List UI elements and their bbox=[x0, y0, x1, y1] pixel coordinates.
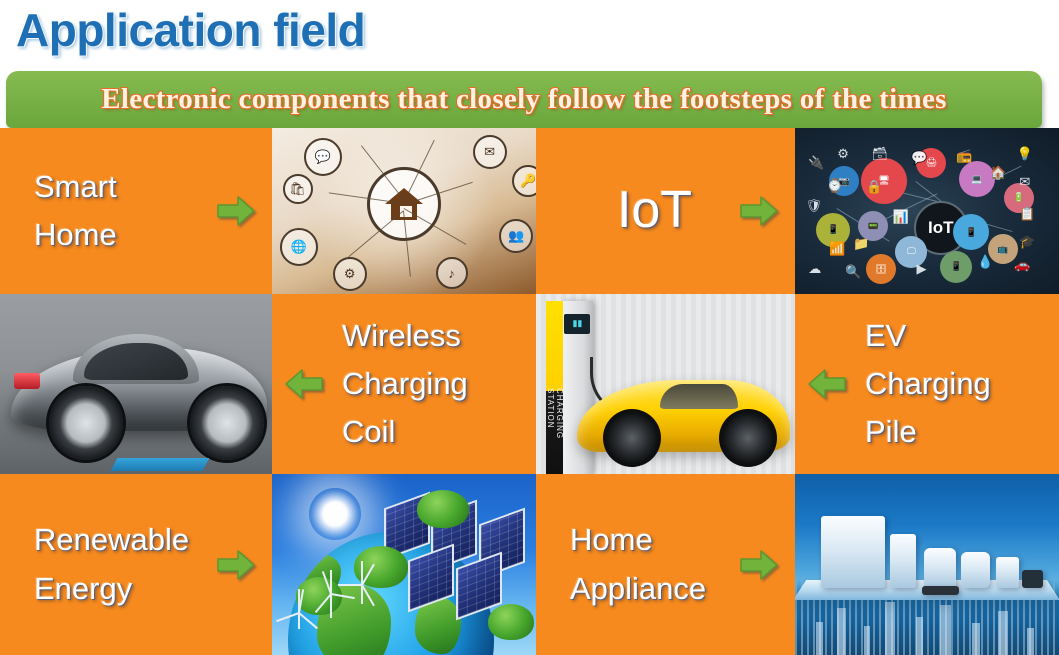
cell-ev-charging-image: CHARGING STATION ▮▮ bbox=[536, 294, 795, 474]
microwave bbox=[1022, 570, 1043, 588]
shield-icon: 🛡 bbox=[806, 198, 823, 214]
arrow-right-icon bbox=[739, 548, 779, 582]
video-icon: ▶ bbox=[916, 261, 926, 277]
key-icon: 🔑 bbox=[512, 165, 536, 197]
building bbox=[1027, 628, 1034, 655]
building bbox=[885, 602, 895, 655]
cell-renewable-energy-image bbox=[272, 474, 536, 655]
application-grid: Smart Home 💬 ✉ 🔑 🛍 🌐 ⚙ bbox=[0, 128, 1059, 655]
iot-label: IoT bbox=[617, 182, 692, 239]
blade bbox=[361, 564, 375, 586]
blade bbox=[361, 585, 375, 607]
cell-smart-home-image: 💬 ✉ 🔑 🛍 🌐 ⚙ ♪ 👥 bbox=[272, 128, 536, 294]
arrow-right-icon bbox=[739, 194, 779, 228]
clipboard-icon: 📋 bbox=[1019, 206, 1035, 222]
cell-iot[interactable]: IoT bbox=[536, 128, 795, 294]
tree bbox=[488, 604, 534, 640]
range-hood bbox=[924, 548, 956, 588]
chat-icon: 💬 bbox=[304, 138, 342, 176]
wireless-charging-coil-label: Wireless Charging Coil bbox=[342, 312, 468, 456]
tablet-node: 📱 bbox=[953, 214, 989, 250]
ev-charging-pile-label: EV Charging Pile bbox=[865, 312, 991, 456]
building bbox=[816, 622, 823, 655]
pillar-text: CHARGING STATION bbox=[547, 388, 563, 467]
tree bbox=[417, 490, 469, 528]
tagline-text: Electronic components that closely follo… bbox=[101, 83, 946, 116]
database-icon: 🗃 bbox=[872, 146, 889, 162]
search-icon: 🔍 bbox=[845, 264, 861, 280]
blade bbox=[276, 612, 299, 622]
laptop-node: 💻 bbox=[959, 161, 995, 197]
cell-home-appliance-image bbox=[795, 474, 1059, 655]
building bbox=[972, 623, 980, 655]
washer bbox=[996, 557, 1020, 588]
arrow-left-icon bbox=[284, 367, 324, 401]
cell-ev-charging-pile[interactable]: EV Charging Pile bbox=[795, 294, 1059, 474]
wheel bbox=[49, 386, 123, 460]
wheel bbox=[190, 386, 264, 460]
wireless-charging-pad bbox=[111, 458, 210, 471]
sun-icon bbox=[309, 488, 361, 540]
chat-icon: 💬 bbox=[911, 150, 927, 166]
building bbox=[916, 617, 923, 655]
arrow-right-icon bbox=[216, 548, 256, 582]
wind-turbine bbox=[346, 546, 376, 604]
smart-home-label: Smart Home bbox=[34, 163, 117, 259]
arrow-right-icon bbox=[216, 194, 256, 228]
folder-icon: 📁 bbox=[853, 236, 869, 252]
application-field-slide: Application field Electronic components … bbox=[0, 0, 1059, 655]
music-icon: ♪ bbox=[436, 257, 468, 289]
lock-icon: 🔒 bbox=[866, 179, 882, 195]
bulb-icon: 💡 bbox=[1017, 146, 1033, 162]
server-node: 🗄 bbox=[866, 254, 896, 284]
solar-panel bbox=[408, 544, 454, 613]
wheel bbox=[603, 409, 661, 467]
mobile-node: 📱 bbox=[940, 251, 972, 283]
renewable-energy-label: Renewable Energy bbox=[34, 516, 189, 612]
cooktop bbox=[922, 586, 959, 595]
windscreen bbox=[660, 384, 738, 409]
plug-icon: 🔌 bbox=[808, 155, 824, 171]
wind-turbine bbox=[283, 575, 313, 629]
taillight bbox=[14, 373, 40, 389]
cell-iot-image: IoT 🖥 🖨 📷 💻 🔋 📱 📟 📱 🖵 📱 🗄 📺 🔌 ⚙ 🗃 💬 📻 💡 … bbox=[795, 128, 1059, 294]
arrow-left-icon bbox=[807, 367, 847, 401]
building bbox=[837, 608, 846, 655]
page-title: Application field bbox=[16, 2, 365, 60]
graduation-icon: 🎓 bbox=[1019, 234, 1035, 250]
house-icon: 🏠 bbox=[990, 165, 1006, 181]
gear-icon: ⚙ bbox=[333, 257, 367, 291]
microwave-icon: 📻 bbox=[956, 148, 972, 164]
refrigerator bbox=[821, 516, 884, 588]
chart-icon: 📊 bbox=[893, 209, 909, 225]
gears-icon: ⚙ bbox=[837, 146, 849, 162]
cell-wireless-charging-coil[interactable]: Wireless Charging Coil bbox=[272, 294, 536, 474]
car-icon: 🚗 bbox=[1014, 257, 1030, 273]
charger-display: ▮▮ bbox=[564, 314, 590, 334]
building bbox=[864, 626, 870, 655]
cell-home-appliance[interactable]: Home Appliance bbox=[536, 474, 795, 655]
wifi-icon: 📶 bbox=[829, 241, 845, 257]
boiler bbox=[961, 552, 990, 588]
home-appliance-label: Home Appliance bbox=[570, 516, 706, 612]
cloud-icon: ☁ bbox=[808, 261, 821, 277]
watch-icon: ⌚ bbox=[827, 178, 843, 194]
wheel bbox=[719, 409, 777, 467]
mail-icon: ✉ bbox=[473, 135, 507, 169]
globe-icon: 🌐 bbox=[280, 228, 318, 266]
cell-renewable-energy[interactable]: Renewable Energy bbox=[0, 474, 272, 655]
building bbox=[940, 605, 951, 655]
drop-icon: 💧 bbox=[977, 254, 993, 270]
bag-icon: 🛍 bbox=[283, 174, 313, 204]
mail-icon: ✉ bbox=[1019, 174, 1030, 190]
building bbox=[998, 611, 1008, 655]
cell-smart-home[interactable]: Smart Home bbox=[0, 128, 272, 294]
tagline-banner: Electronic components that closely follo… bbox=[6, 71, 1042, 128]
water-heater bbox=[890, 534, 916, 588]
cell-wireless-charging-image bbox=[0, 294, 272, 474]
